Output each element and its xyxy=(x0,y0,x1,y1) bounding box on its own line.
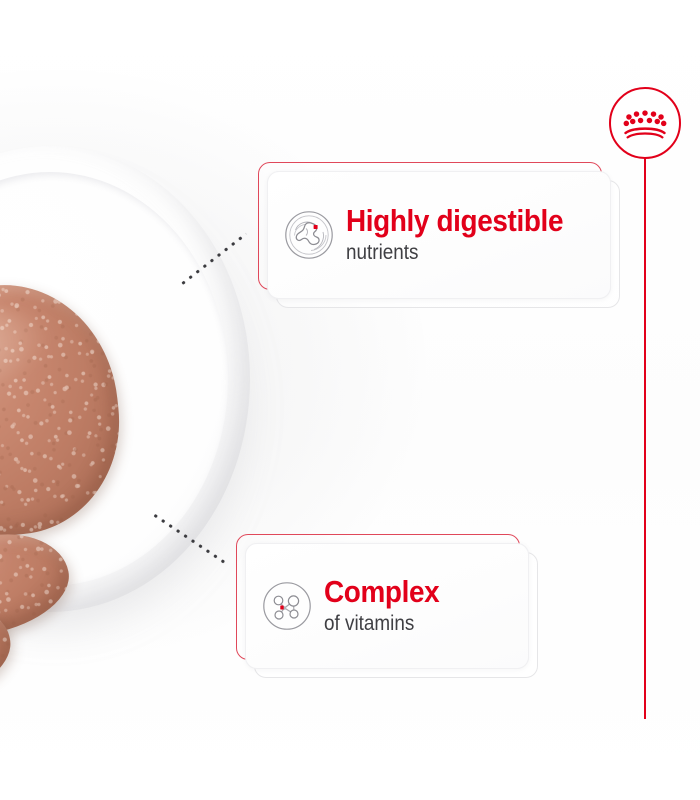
feature-card-complex-of-vitamins[interactable]: Complex of vitamins xyxy=(236,534,538,678)
feature-subtitle: of vitamins xyxy=(324,611,500,636)
feature-text-block: Highly digestible nutrients xyxy=(346,205,602,265)
feature-title: Complex xyxy=(324,576,500,608)
product-photo xyxy=(0,146,270,646)
vitamin-molecule-icon xyxy=(260,579,314,633)
feature-card-highly-digestible[interactable]: Highly digestible nutrients xyxy=(258,162,620,308)
feature-title: Highly digestible xyxy=(346,205,576,237)
card-surface: Complex of vitamins xyxy=(245,543,529,669)
card-surface: Highly digestible nutrients xyxy=(267,171,611,299)
royal-canin-crown-icon xyxy=(609,87,681,159)
infographic-canvas: Highly digestible nutrients xyxy=(0,0,700,800)
digestive-tract-icon xyxy=(282,208,336,262)
feature-subtitle: nutrients xyxy=(346,240,576,265)
brand-stem-line xyxy=(644,158,646,719)
feature-text-block: Complex of vitamins xyxy=(324,576,520,636)
